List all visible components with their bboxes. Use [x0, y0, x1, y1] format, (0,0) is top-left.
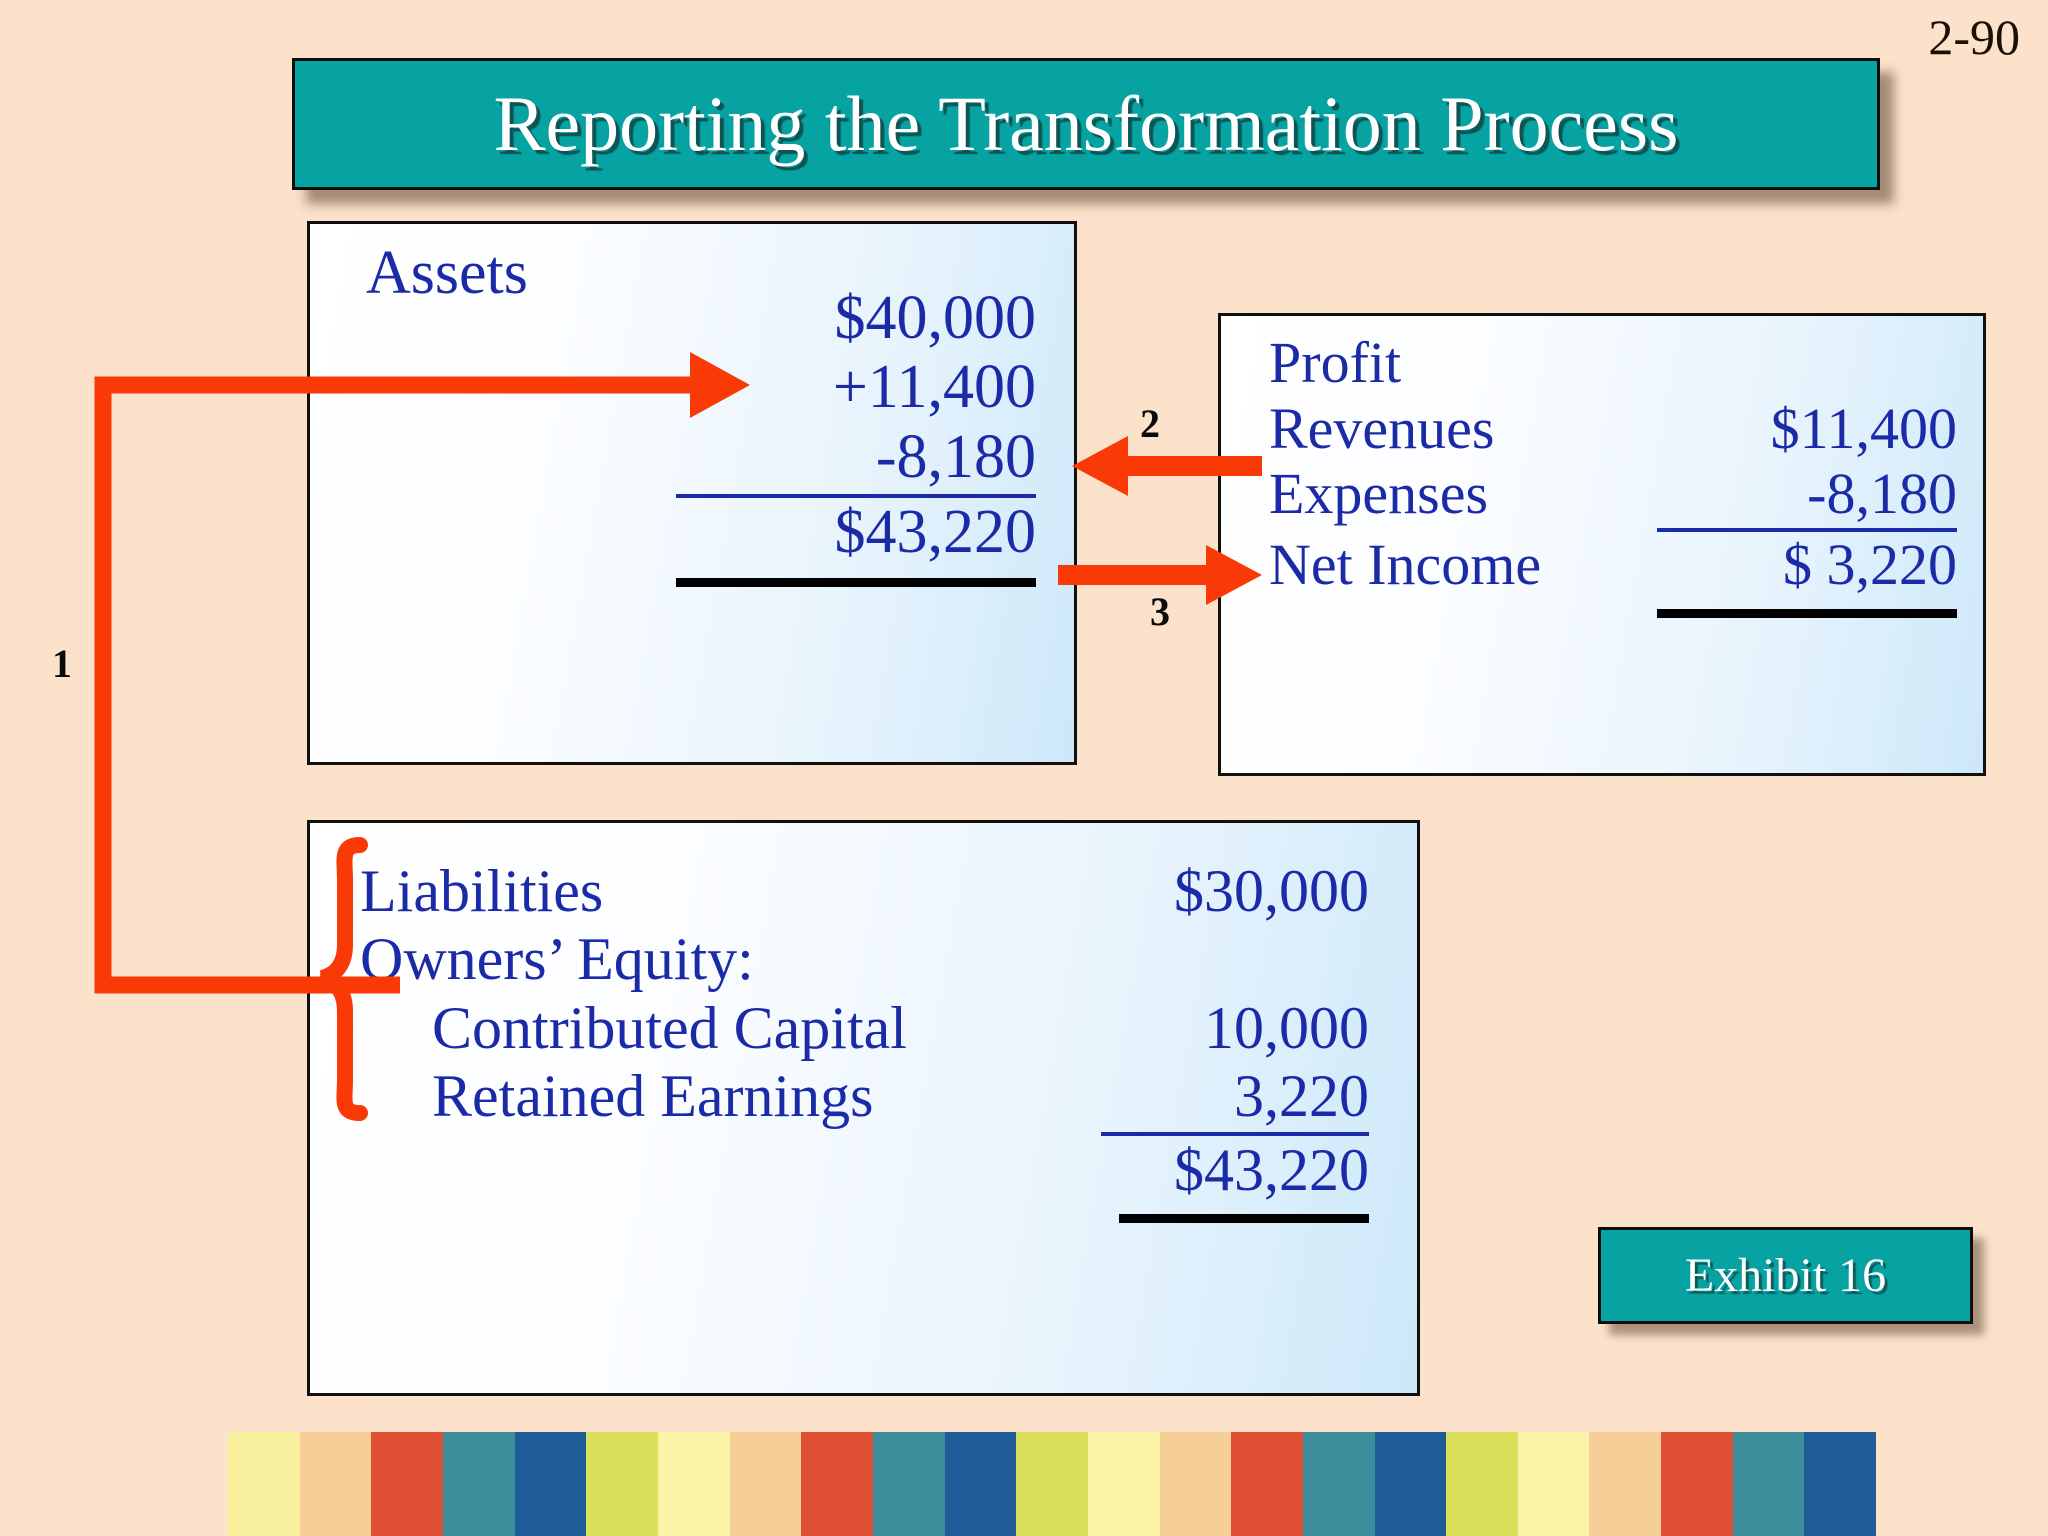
stripe-segment [1589, 1432, 1661, 1536]
assets-value-list: $40,000 +11,400 -8,180 $43,220 [676, 284, 1036, 587]
profit-total-rule [1657, 609, 1957, 618]
assets-heading: Assets [366, 242, 528, 304]
assets-panel: Assets $40,000 +11,400 -8,180 $43,220 [307, 221, 1077, 765]
assets-row: $40,000 [676, 284, 1036, 353]
stripe-segment [1088, 1432, 1160, 1536]
equity-row-owners-equity: Owners’ Equity: [360, 925, 1369, 993]
profit-row-expenses: Expenses -8,180 [1269, 461, 1957, 532]
equity-label: Retained Earnings [360, 1062, 874, 1135]
profit-row-revenues: Revenues $11,400 [1269, 396, 1957, 462]
stripe-segment [586, 1432, 658, 1536]
stripe-segment [1160, 1432, 1232, 1536]
equity-content: Liabilities $30,000 Owners’ Equity: Cont… [360, 857, 1369, 1223]
slide-title-bar: Reporting the Transformation Process [292, 58, 1880, 190]
stripe-segment [1661, 1432, 1733, 1536]
equity-value [1101, 925, 1369, 993]
equity-row-liabilities: Liabilities $30,000 [360, 857, 1369, 925]
equity-label: Contributed Capital [360, 994, 907, 1062]
liabilities-equity-panel: Liabilities $30,000 Owners’ Equity: Cont… [307, 820, 1420, 1396]
slide-canvas: 2-90 Reporting the Transformation Proces… [0, 0, 2048, 1536]
decorative-stripe-bar [228, 1432, 1876, 1536]
assets-row: -8,180 [676, 423, 1036, 498]
assets-total-rule [676, 578, 1036, 587]
stripe-segment [1446, 1432, 1518, 1536]
profit-row-net-income: Net Income $ 3,220 [1269, 532, 1957, 598]
stripe-segment [515, 1432, 587, 1536]
profit-label: Net Income [1269, 532, 1541, 598]
equity-value: 10,000 [1101, 994, 1369, 1062]
profit-panel: Profit Revenues $11,400 Expenses -8,180 … [1218, 313, 1986, 776]
profit-heading-row: Profit [1269, 330, 1957, 396]
assets-row: +11,400 [676, 353, 1036, 422]
connector-label-3: 3 [1150, 588, 1170, 635]
stripe-segment [228, 1432, 300, 1536]
page-title: Reporting the Transformation Process [493, 85, 1678, 163]
profit-heading-spacer [1657, 330, 1957, 396]
connector-2-arrowhead [1072, 436, 1128, 496]
stripe-segment [1016, 1432, 1088, 1536]
equity-label: Liabilities [360, 857, 603, 925]
connector-label-1: 1 [52, 640, 72, 687]
stripe-segment [801, 1432, 873, 1536]
profit-label: Revenues [1269, 396, 1495, 462]
stripe-segment [873, 1432, 945, 1536]
equity-value: $30,000 [1101, 857, 1369, 925]
stripe-segment [1231, 1432, 1303, 1536]
profit-value: $ 3,220 [1657, 532, 1957, 598]
stripe-segment [1733, 1432, 1805, 1536]
equity-value: 3,220 [1101, 1062, 1369, 1135]
slide-number: 2-90 [1928, 8, 2020, 66]
equity-label: Owners’ Equity: [360, 925, 754, 993]
profit-label: Expenses [1269, 461, 1488, 532]
equity-row-contributed-capital: Contributed Capital 10,000 [360, 994, 1369, 1062]
profit-value: $11,400 [1657, 396, 1957, 462]
stripe-segment [371, 1432, 443, 1536]
equity-total-rule [1119, 1214, 1369, 1223]
stripe-segment [1518, 1432, 1590, 1536]
exhibit-label: Exhibit 16 [1685, 1248, 1886, 1303]
stripe-segment [658, 1432, 730, 1536]
stripe-segment [1303, 1432, 1375, 1536]
stripe-segment [300, 1432, 372, 1536]
profit-heading: Profit [1269, 330, 1401, 396]
stripe-segment [945, 1432, 1017, 1536]
stripe-segment [730, 1432, 802, 1536]
assets-row: $43,220 [676, 498, 1036, 567]
profit-content: Profit Revenues $11,400 Expenses -8,180 … [1269, 330, 1957, 618]
equity-row-retained-earnings: Retained Earnings 3,220 [360, 1062, 1369, 1135]
equity-row-total: $43,220 [360, 1136, 1369, 1204]
stripe-segment [443, 1432, 515, 1536]
exhibit-badge: Exhibit 16 [1598, 1227, 1973, 1324]
profit-value: -8,180 [1657, 461, 1957, 532]
equity-value: $43,220 [1101, 1136, 1369, 1204]
connector-label-2: 2 [1140, 400, 1160, 447]
stripe-segment [1375, 1432, 1447, 1536]
stripe-segment [1804, 1432, 1876, 1536]
